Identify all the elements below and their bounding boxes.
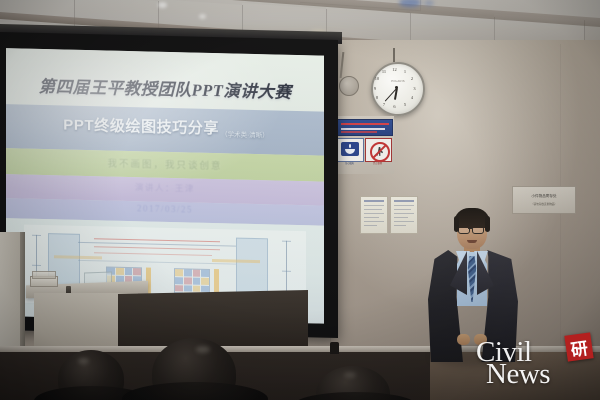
clock-hook: [393, 48, 395, 62]
speaker-hand-right: [474, 334, 487, 345]
audience-head-highlight: [78, 358, 89, 364]
wall-disc-fixture: [339, 76, 359, 96]
speaker-mouth: [467, 240, 477, 243]
no-climbing-label: 禁止攀爬: [365, 161, 390, 165]
speaker-hand-left: [457, 334, 470, 345]
wall-outlet: [330, 342, 339, 354]
lecture-hall-photo: POLARIS 12 1 2 3 4 5 6 7 8 9 10 11 当心触电 …: [0, 0, 600, 400]
speaker-hair-side-right: [485, 216, 490, 232]
storage-notice-title: 小件物品寄存处: [513, 194, 575, 199]
clock-numeral: 5: [401, 102, 409, 107]
wall-clock: POLARIS 12 1 2 3 4 5 6 7 8 9 10 11: [371, 62, 425, 116]
clock-numeral: 10: [373, 76, 381, 81]
blue-notice-sign: [337, 119, 393, 136]
storage-notice-sub: （请勿存放贵重物品）: [513, 202, 575, 206]
wall-column-edge: [20, 232, 25, 364]
clock-numeral: 1: [401, 69, 409, 74]
audience-head-highlight: [344, 372, 356, 378]
clock-numeral: 2: [408, 76, 416, 81]
eyeglasses-bridge: [468, 228, 472, 229]
clock-center-hub: [395, 86, 398, 89]
electric-hazard-label: 当心触电: [337, 161, 362, 165]
audience-head-highlight: [196, 346, 210, 353]
clock-numeral: 3: [411, 86, 419, 91]
clock-numeral: 12: [391, 67, 399, 72]
storage-notice-sign: 小件物品寄存处 （请勿存放贵重物品）: [512, 186, 576, 214]
clock-numeral: 9: [371, 86, 379, 91]
clock-numeral: 7: [380, 102, 388, 107]
speaker-person: [424, 206, 520, 360]
electric-hazard-icon: [337, 138, 364, 162]
screen-glare: [6, 48, 286, 205]
wall-poster-left: [360, 196, 388, 234]
speaker-hair-side-left: [454, 216, 459, 232]
wall-poster-right: [390, 196, 418, 234]
clock-numeral: 8: [373, 95, 381, 100]
podium-papers-2: [32, 271, 56, 279]
wall-safety-sign-group: 当心触电 禁止攀爬: [334, 116, 394, 174]
no-climbing-prohibition-icon: [365, 138, 392, 162]
clock-numeral: 6: [391, 104, 399, 109]
clock-numeral: 4: [408, 95, 416, 100]
clock-numeral: 11: [380, 69, 388, 74]
